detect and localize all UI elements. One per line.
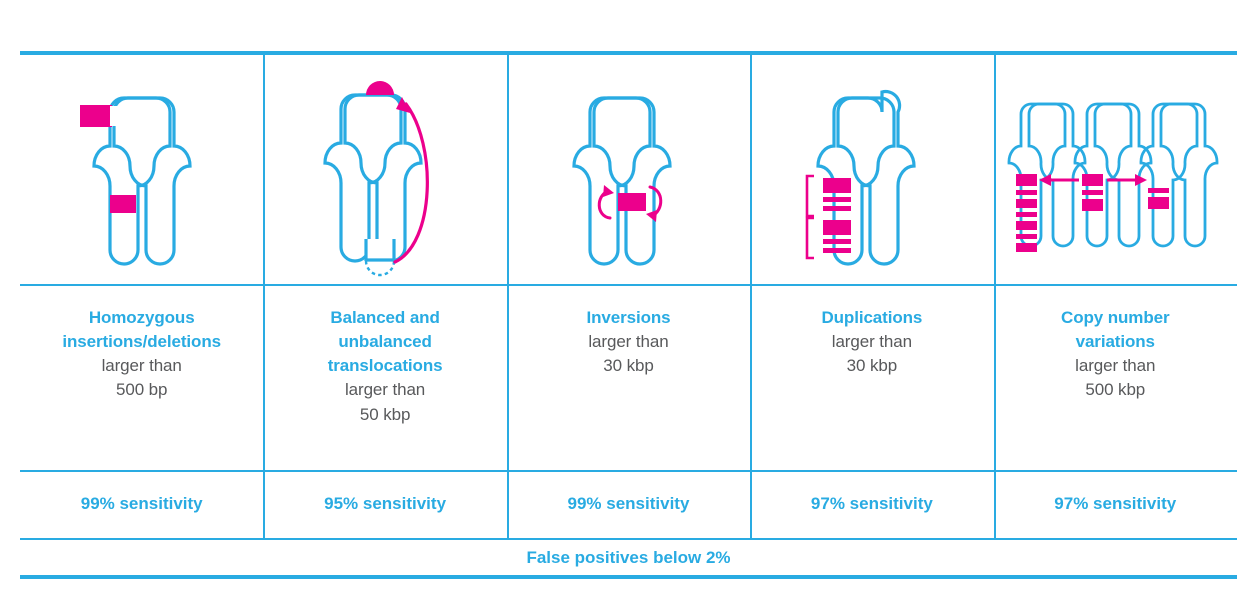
- variant-size-line: larger than: [34, 354, 249, 378]
- variant-size-line: 30 kbp: [521, 354, 736, 378]
- chromosome-with-inserted-and-deleted-bands-icon: [52, 60, 232, 280]
- duplicated-band-group-b: [823, 220, 851, 253]
- column-balanced-unbalanced-translocations: Balanced and unbalanced translocations l…: [263, 55, 506, 539]
- illustration-cell-2: [263, 55, 506, 284]
- copy-number-arrow-right: [1107, 174, 1147, 186]
- variant-columns: Homozygous insertions/deletions larger t…: [20, 55, 1237, 539]
- deletion-bands: [1148, 188, 1169, 209]
- column-duplications: Duplications larger than 30 kbp 97% sens…: [750, 55, 993, 539]
- caption-cell-1: Homozygous insertions/deletions larger t…: [20, 284, 263, 470]
- duplication-bracket-a: [807, 176, 814, 216]
- chromosome-with-duplicated-band-blocks-icon: [782, 60, 962, 280]
- inverted-segment-band: [618, 193, 646, 211]
- caption-cell-3: Inversions larger than 30 kbp: [507, 284, 750, 470]
- structural-variant-detection-table: Homozygous insertions/deletions larger t…: [20, 30, 1237, 580]
- illustration-cell-3: [507, 55, 750, 284]
- variant-title-line: translocations: [277, 354, 492, 378]
- deletion-band: [110, 195, 136, 213]
- variant-size-line: 30 kbp: [764, 354, 979, 378]
- reference-bands: [1082, 174, 1103, 211]
- variant-title-line: Inversions: [521, 306, 736, 330]
- inversion-arrow-right-head: [646, 210, 657, 222]
- illustration-cell-5: [994, 55, 1237, 284]
- variant-size-line: larger than: [1008, 354, 1223, 378]
- chromosome-with-inversion-rotation-arrows-icon: [538, 60, 718, 280]
- illustration-cell-4: [750, 55, 993, 284]
- duplicated-band-group-a: [823, 178, 851, 211]
- false-positive-note: False positives below 2%: [20, 540, 1237, 575]
- variant-size-line: larger than: [764, 330, 979, 354]
- column-copy-number-variations: Copy number variations larger than 500 k…: [994, 55, 1237, 539]
- table-bottom-border: [20, 575, 1237, 579]
- sensitivity-cell-1: 99% sensitivity: [20, 470, 263, 538]
- sensitivity-cell-3: 99% sensitivity: [507, 470, 750, 538]
- variant-size-line: 50 kbp: [277, 403, 492, 427]
- illustration-cell-1: [20, 55, 263, 284]
- variant-size-line: 500 kbp: [1008, 378, 1223, 402]
- variant-title-line: Homozygous: [34, 306, 249, 330]
- three-chromosomes-with-copy-number-arrows-icon: [1001, 60, 1229, 280]
- variant-title-line: variations: [1008, 330, 1223, 354]
- caption-cell-5: Copy number variations larger than 500 k…: [994, 284, 1237, 470]
- variant-title-line: Copy number: [1008, 306, 1223, 330]
- column-inversions: Inversions larger than 30 kbp 99% sensit…: [507, 55, 750, 539]
- chromosome-with-translocation-arrow-icon: [295, 57, 475, 283]
- caption-cell-2: Balanced and unbalanced translocations l…: [263, 284, 506, 470]
- variant-title-line: insertions/deletions: [34, 330, 249, 354]
- sensitivity-cell-2: 95% sensitivity: [263, 470, 506, 538]
- translocated-segment: [366, 81, 394, 95]
- variant-size-line: 500 bp: [34, 378, 249, 402]
- sensitivity-cell-4: 97% sensitivity: [750, 470, 993, 538]
- inversion-arrow-left-head: [603, 185, 614, 197]
- sensitivity-cell-5: 97% sensitivity: [994, 470, 1237, 538]
- variant-title-line: Balanced and: [277, 306, 492, 330]
- column-homozygous-insertions-deletions: Homozygous insertions/deletions larger t…: [20, 55, 263, 539]
- variant-size-line: larger than: [521, 330, 736, 354]
- variant-title-line: unbalanced: [277, 330, 492, 354]
- duplication-bracket-b: [807, 218, 814, 258]
- variant-title-line: Duplications: [764, 306, 979, 330]
- insertion-band: [80, 105, 112, 127]
- amplification-bands: [1016, 174, 1037, 252]
- variant-size-line: larger than: [277, 378, 492, 402]
- caption-cell-4: Duplications larger than 30 kbp: [750, 284, 993, 470]
